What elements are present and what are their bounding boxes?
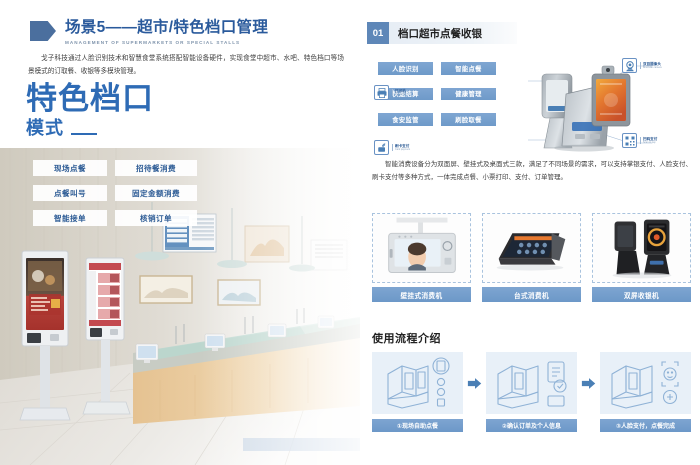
tag-onsite-order[interactable]: 现场点餐 [33,160,107,176]
product-card-desktop[interactable]: 台式消费机 [482,213,581,302]
headline-underline-dash [71,133,97,136]
flow-step-row: ①现场自助点餐 [372,352,692,432]
flow-caption-1: ①现场自助点餐 [372,419,463,432]
tag-redeem-order[interactable]: 核销订单 [115,210,197,226]
section-title-cn: 场景5——超市/特色档口管理 [65,19,268,37]
dual-screen-pos-icon [592,213,691,283]
subsection-number: 01 [367,22,389,44]
callout-nfc: 刷卡支付 Card payment [374,140,410,155]
callout-printer: 打印机 Tiny printer [374,85,407,100]
subsection-header: 01 档口超市点餐收银 [367,22,517,44]
tag-hospitality-meal[interactable]: 招待餐消费 [115,160,197,176]
arrow-right-icon [463,377,486,390]
feature-face-recognition[interactable]: 人脸识别 [378,62,433,75]
callout-nfc-text: 刷卡支付 Card payment [392,144,411,151]
feature-tag-grid: 现场点餐 招待餐消费 点餐叫号 固定金额消费 智能接单 核销订单 [33,160,198,226]
callout-printer-en: Tiny printer [395,93,407,96]
callout-printer-text: 打印机 Tiny printer [392,89,407,96]
pos-device-art [480,50,700,155]
headline-line1: 特色档口 [26,84,154,115]
callout-nfc-en: Card payment [395,148,410,151]
headline-line2: 模式 [26,120,64,138]
right-column: 01 档口超市点餐收银 人脸识别 智能点餐 快速结算 健康管理 食安监管 刷脸取… [360,0,700,465]
subsection-label: 档口超市点餐收银 [398,26,482,41]
headline-line2-row: 模式 [26,120,154,138]
flow-section-title: 使用流程介绍 [372,330,441,346]
pos-device-diagram [480,50,700,155]
product-caption-wall-mounted: 壁挂式消费机 [372,287,471,302]
printer-icon [374,85,389,100]
product-card-wall-mounted[interactable]: 壁挂式消费机 [372,213,471,302]
flow-caption-3: ③人脸支付，点餐完成 [600,419,691,432]
headline-block: 特色档口 模式 [26,84,154,138]
pos-order-icon [372,352,463,414]
flow-caption-2: ②确认订单及个人信息 [486,419,577,432]
callout-camera-en: Binocular camera [643,66,662,69]
flow-step-1[interactable]: ①现场自助点餐 [372,352,463,432]
product-card-row: 壁挂式消费机 [372,213,692,302]
product-caption-dual-screen: 双屏收银机 [592,287,691,302]
pos-confirm-icon [486,352,577,414]
product-card-dual-screen[interactable]: 双屏收银机 [592,213,691,302]
desktop-terminal-icon [482,213,581,283]
callout-qrcode-text: 扫码支付 Scan to pay [640,137,658,144]
tag-order-queue-number[interactable]: 点餐叫号 [33,185,107,201]
callout-qrcode-en: Scan to pay [643,141,657,144]
left-column: 场景5——超市/特色档口管理 MANAGEMENT OF SUPERMARKET… [0,0,360,465]
callout-camera-text: 双目摄像头 Binocular camera [640,62,662,69]
description-paragraph: 智能消费设备分为双面屏、壁挂式及桌面式三款，满足了不同场景的需求，可以支持掌银支… [372,158,692,184]
pos-facepay-icon [600,352,691,414]
feature-food-safety[interactable]: 食安监管 [378,113,433,126]
poster-page: 场景5——超市/特色档口管理 MANAGEMENT OF SUPERMARKET… [0,0,700,465]
camera-icon [622,58,637,73]
callout-camera: 双目摄像头 Binocular camera [622,58,662,73]
product-caption-desktop: 台式消费机 [482,287,581,302]
flow-step-3[interactable]: ③人脸支付，点餐完成 [600,352,691,432]
wall-mounted-terminal-icon [372,213,471,283]
nfc-icon [374,140,389,155]
section-title-block: 场景5——超市/特色档口管理 MANAGEMENT OF SUPERMARKET… [30,19,268,45]
intro-paragraph: 戈子科技通过人脸识别技术和智慧食堂系统搭配智能设备硬件，实现食堂中超市、水吧、特… [28,53,344,79]
qrcode-icon [622,133,637,148]
tag-smart-accept-order[interactable]: 智能接单 [33,210,107,226]
callout-qrcode: 扫码支付 Scan to pay [622,133,657,148]
arrow-right-icon-2 [577,377,600,390]
flow-step-2[interactable]: ②确认订单及个人信息 [486,352,577,432]
pennant-arrow-icon [30,21,56,41]
tag-fixed-amount[interactable]: 固定金额消费 [115,185,197,201]
section-title-en: MANAGEMENT OF SUPERMARKETS OR SPECIAL ST… [65,40,268,45]
